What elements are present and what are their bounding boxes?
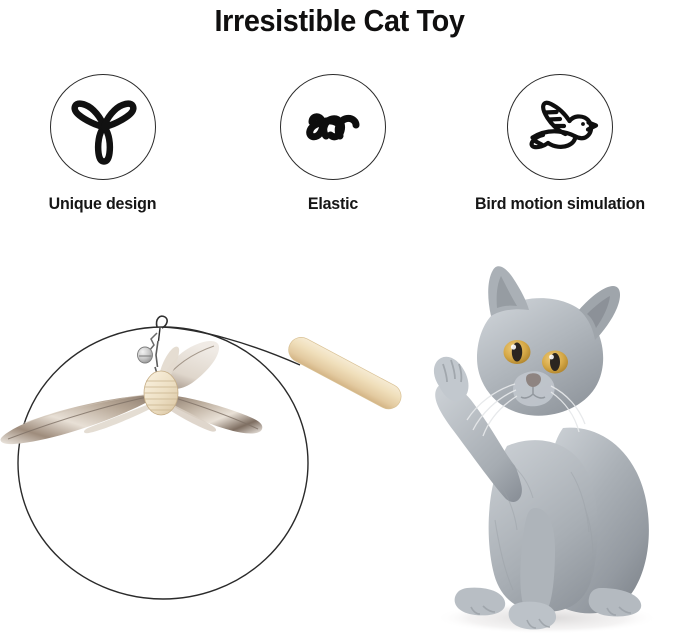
trefoil-propeller-icon [51,75,157,181]
cat-hind-foot-right [589,588,642,616]
cat-eye-right [542,351,568,374]
wire-swivel [157,316,168,341]
flying-dove-icon [508,75,614,181]
wooden-bead [144,371,178,415]
feature-icon-circle [50,74,156,180]
feature-elastic: Elastic [243,74,423,214]
feature-icon-circle [507,74,613,180]
feature-bird-motion: Bird motion simulation [440,74,679,214]
bell-and-chain [138,333,159,377]
spring-coil-icon [281,75,387,181]
dove-eye-icon [581,122,585,126]
feature-icon-circle [280,74,386,180]
wooden-handle [284,333,405,413]
feature-unique-design: Unique design [0,74,205,214]
feature-label: Unique design [6,194,199,214]
feather-left [1,395,157,444]
feature-label: Bird motion simulation [447,194,673,214]
small-bell [138,347,153,363]
cat-eye-left [504,340,531,364]
page-title: Irresistible Cat Toy [24,2,655,40]
feature-row: Unique design Elastic [0,74,679,234]
feature-label: Elastic [248,194,417,214]
product-photo [0,255,420,637]
cat-front-leg [520,508,555,616]
cat-photo [395,258,679,637]
